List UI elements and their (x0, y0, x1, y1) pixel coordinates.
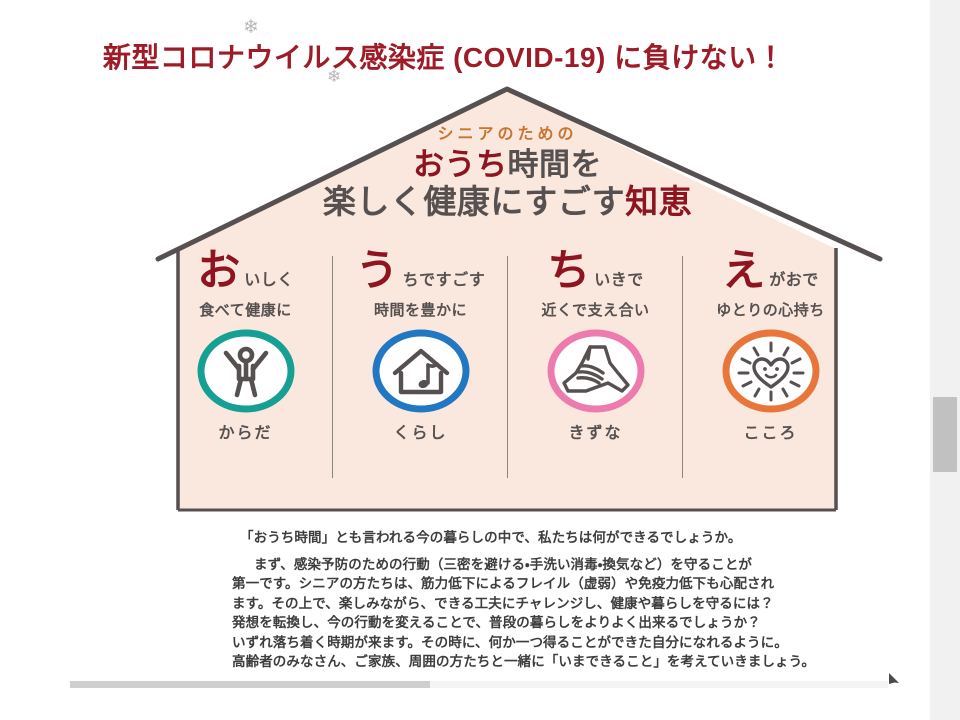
big-kana: ち (547, 250, 590, 293)
mouse-cursor (888, 672, 902, 686)
body-text: 「おうち時間」とも言われる今の暮らしの中で、私たちは何ができるでしょうか。 まず… (232, 528, 832, 672)
poster-column-kokoro: え がおで ゆとりの心持ち (683, 250, 858, 480)
body-line: いずれ落ち着く時期が来ます。その時に、何か一つ得ることができた自分になれるように… (232, 633, 832, 653)
virus-mark-icon: ❄ (243, 18, 259, 37)
page-title: 新型コロナウイルス感染症 (COVID-19) に負けない！ (0, 36, 888, 76)
column-category-label: こころ (687, 419, 854, 443)
poster-columns: お いしく 食べて健康に (158, 250, 858, 480)
horizontal-scrollbar[interactable] (70, 681, 888, 688)
body-line: 発想を転換し、今の行動を変えることで、普段の暮らしをよりよく出来るでしょうか？ (232, 613, 832, 633)
column-subtitle: ゆとりの心持ち (687, 299, 854, 320)
poster-title-accent-2: 知恵 (625, 183, 692, 220)
clasped-hands-icon (546, 329, 646, 413)
person-arms-up-icon (196, 329, 296, 413)
body-line: まず、感染予防のための行動（三密を避ける・手洗い消毒・換気など）を守ることが (232, 555, 832, 575)
column-category-label: きずな (512, 419, 679, 443)
kana-row: う ちですごす (337, 250, 504, 298)
column-category-label: くらし (337, 419, 504, 443)
poster-eyebrow: シニアのための (120, 120, 888, 144)
big-kana: お (197, 250, 240, 293)
small-kana: いきで (594, 266, 644, 290)
poster-title-line-2: 楽しく健康にすごす知恵 (120, 183, 888, 221)
shining-heart-face-icon (721, 329, 821, 413)
body-lead-paragraph: 「おうち時間」とも言われる今の暮らしの中で、私たちは何ができるでしょうか。 (232, 528, 832, 548)
big-kana: え (722, 250, 765, 293)
kana-row: え がおで (687, 250, 854, 298)
column-subtitle: 時間を豊かに (337, 299, 504, 320)
big-kana: う (356, 250, 399, 293)
poster-title-rest-1: 時間を (508, 147, 603, 182)
poster-title-line-1: おうち時間を (120, 147, 888, 183)
poster-column-karada: お いしく 食べて健康に (158, 250, 333, 480)
house-illustration: シニアのための おうち時間を 楽しく健康にすごす知恵 お いしく 食べて健康に (120, 82, 888, 517)
house-music-note-icon (371, 329, 471, 413)
kana-row: ち いきで (512, 250, 679, 298)
vertical-scrollbar-thumb[interactable] (933, 397, 957, 472)
vertical-scrollbar[interactable] (930, 0, 960, 720)
body-line: 高齢者のみなさん、ご家族、周囲の方たちと一緒に「いまできること」を考えていきまし… (232, 652, 832, 672)
column-category-label: からだ (162, 419, 329, 443)
body-line: 第一です。シニアの方たちは、筋力低下によるフレイル（虚弱）や免疫力低下も心配され (232, 574, 832, 594)
column-subtitle: 食べて健康に (162, 299, 329, 320)
poster-title-rest-2: 楽しく健康にすごす (323, 183, 625, 220)
poster-title-accent-1: おうち (413, 147, 508, 182)
poster-column-kurashi: う ちですごす 時間を豊かに (333, 250, 508, 480)
document-viewport[interactable]: 新型コロナウイルス感染症 (COVID-19) に負けない！ ❄ ❄ シニアのた (0, 0, 888, 700)
small-kana: いしく (244, 266, 294, 290)
poster-heading: シニアのための おうち時間を 楽しく健康にすごす知恵 (120, 120, 888, 221)
screenshot-root: 新型コロナウイルス感染症 (COVID-19) に負けない！ ❄ ❄ シニアのた (0, 0, 960, 720)
kana-row: お いしく (162, 250, 329, 298)
column-subtitle: 近くで支え合い (512, 299, 679, 320)
body-line: ます。その上で、楽しみながら、できる工夫にチャレンジし、健康や暮らしを守るには？ (232, 594, 832, 614)
poster-column-kizuna: ち いきで 近くで支え合い (508, 250, 683, 480)
small-kana: がおで (769, 266, 819, 290)
horizontal-scrollbar-thumb[interactable] (70, 681, 430, 688)
small-kana: ちですごす (403, 266, 486, 290)
